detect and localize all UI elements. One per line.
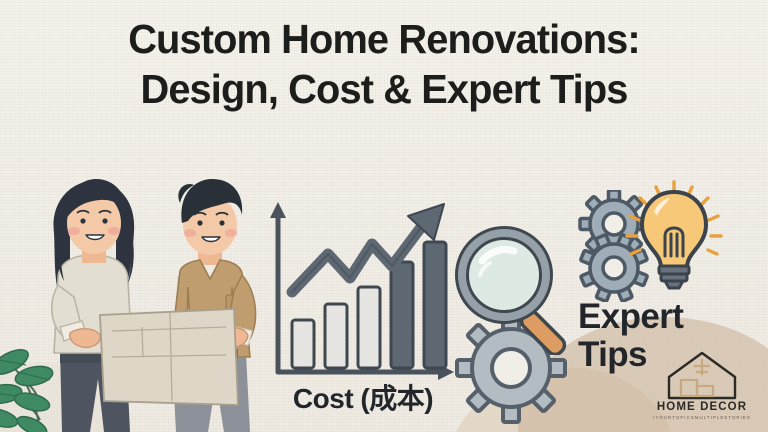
bar-1 (292, 320, 314, 368)
poster-canvas: Custom Home Renovations: Design, Cost & … (0, 0, 768, 432)
blueprint-floor-plan (100, 309, 238, 405)
bar-3 (358, 287, 380, 368)
bar-4 (391, 262, 413, 368)
brand-logo[interactable]: HOME DECOR IYOURTOPICSMULTIPLESTORIES (646, 350, 758, 428)
logo-tagline: IYOURTOPICSMULTIPLESTORIES (646, 414, 758, 421)
chart-x-axis-label: Cost (成本) (258, 382, 468, 416)
cost-bar-chart (258, 196, 458, 396)
bar-2 (325, 304, 347, 368)
couple-illustration (30, 167, 280, 432)
title-line-1: Custom Home Renovations: (12, 14, 757, 64)
expert-tips-line-1: Expert (578, 298, 738, 336)
magnifying-glass-icon (452, 225, 582, 355)
lightbulb-icon (618, 178, 730, 292)
house-outline-icon (665, 350, 739, 400)
page-title: Custom Home Renovations: Design, Cost & … (0, 14, 768, 114)
y-axis-arrowhead (270, 202, 286, 218)
logo-brand-name: HOME DECOR (646, 401, 758, 414)
upward-trend-arrow (292, 204, 444, 292)
title-line-2: Design, Cost & Expert Tips (12, 64, 757, 114)
bar-5 (424, 242, 446, 368)
